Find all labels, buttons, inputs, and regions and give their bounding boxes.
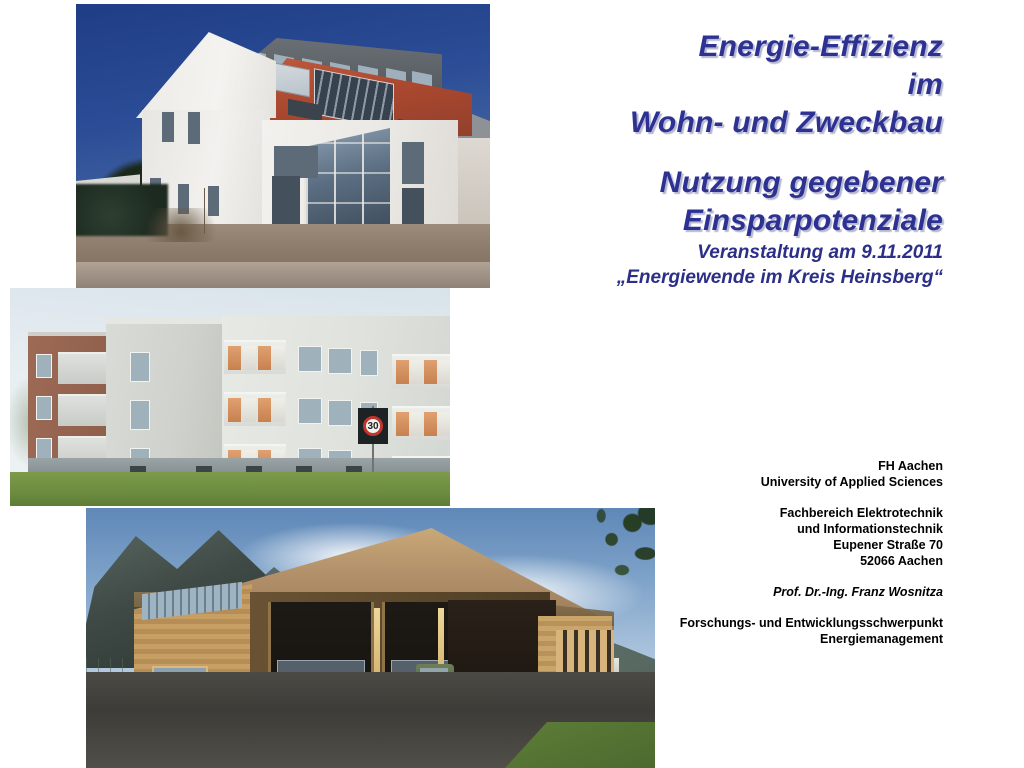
title-line-1: Energie-Effizienz: [500, 28, 943, 66]
focus-line-1: Forschungs- und Entwicklungsschwerpunkt: [560, 615, 943, 631]
title-line-4: Nutzung gegebener: [500, 164, 943, 202]
window: [298, 398, 322, 424]
institution-line-1: FH Aachen: [560, 458, 943, 474]
glazing-grid: [306, 128, 390, 234]
window: [162, 112, 174, 142]
balcony: [224, 392, 286, 426]
speed-limit-value: 30: [363, 416, 383, 436]
window: [274, 146, 318, 178]
balcony: [392, 354, 450, 388]
title-line-3: Wohn- und Zweckbau: [500, 104, 943, 142]
focus-line-2: Energiemanagement: [560, 631, 943, 647]
apartment-block-photo: 30: [10, 288, 450, 506]
address-city: 52066 Aachen: [560, 553, 943, 569]
balcony: [224, 340, 286, 374]
window: [36, 396, 52, 420]
window: [328, 400, 352, 426]
subtitle-event-name: „Energiewende im Kreis Heinsberg“: [500, 265, 943, 290]
contact-block: FH Aachen University of Applied Sciences…: [560, 458, 943, 647]
department-line-1: Fachbereich Elektrotechnik: [560, 505, 943, 521]
pavement: [76, 262, 490, 288]
presentation-slide: 30: [0, 0, 1024, 768]
window: [402, 142, 424, 184]
balcony: [392, 406, 450, 440]
foreground-bush: [136, 208, 226, 242]
presenter-name: Prof. Dr.-Ing. Franz Wosnitza: [560, 584, 943, 600]
window: [130, 400, 150, 430]
title-line-2: im: [500, 66, 943, 104]
window: [298, 346, 322, 372]
window: [130, 352, 150, 382]
balcony: [58, 352, 110, 384]
title-block: Energie-Effizienz im Wohn- und Zweckbau …: [500, 28, 943, 290]
address-street: Eupener Straße 70: [560, 537, 943, 553]
contact-spacer: [560, 600, 943, 615]
window: [328, 348, 352, 374]
contact-spacer: [560, 490, 943, 505]
department-line-2: und Informationstechnik: [560, 521, 943, 537]
passive-house-photo: [76, 4, 490, 288]
balcony: [58, 394, 110, 426]
institution-line-2: University of Applied Sciences: [560, 474, 943, 490]
contact-spacer: [560, 569, 943, 584]
title-spacer: [500, 142, 943, 164]
lawn: [10, 472, 450, 506]
window: [188, 112, 200, 144]
window: [360, 350, 378, 376]
title-line-5: Einsparpotenziale: [500, 202, 943, 240]
subtitle-event-date: Veranstaltung am 9.11.2011: [500, 240, 943, 265]
window: [36, 354, 52, 378]
speed-limit-sign: 30: [358, 408, 388, 444]
